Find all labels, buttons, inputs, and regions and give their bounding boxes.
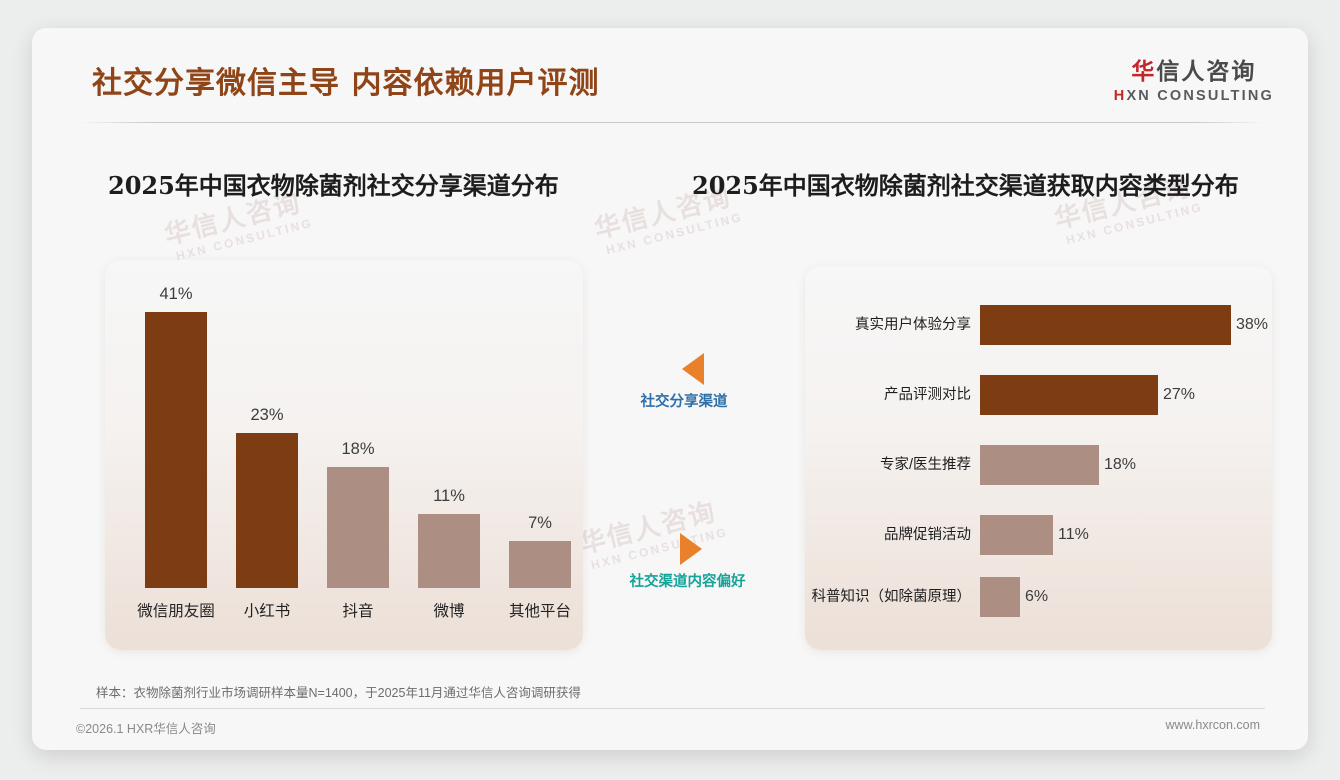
logo-cn-red-char: 华 bbox=[1131, 58, 1156, 85]
footer-divider bbox=[80, 708, 1265, 709]
watermark-en: HXN CONSULTING bbox=[175, 217, 315, 263]
bar-category-label: 品牌促销活动 bbox=[805, 526, 980, 545]
column-category-label: 微信朋友圈 bbox=[137, 599, 215, 621]
bar-value-label: 11% bbox=[1058, 526, 1089, 544]
column-category-label: 微博 bbox=[433, 599, 464, 621]
bar-track: 6% bbox=[980, 574, 1272, 620]
bar-fill[interactable] bbox=[980, 375, 1158, 415]
bar-fill[interactable] bbox=[980, 445, 1099, 485]
slide-header: 社交分享微信主导 内容依赖用户评测 华信人咨询 HXN CONSULTING bbox=[32, 28, 1308, 122]
column-group[interactable]: 23%小红书 bbox=[236, 433, 298, 588]
bar-fill[interactable] bbox=[980, 305, 1231, 345]
bar-chart-plot: 真实用户体验分享38%产品评测对比27%专家/医生推荐18%品牌促销活动11%科… bbox=[805, 266, 1272, 650]
bar-fill[interactable] bbox=[980, 515, 1053, 555]
column-value-label: 11% bbox=[433, 487, 465, 506]
chart-card-share-channels: 41%微信朋友圈23%小红书18%抖音11%微博7%其他平台 bbox=[105, 260, 583, 650]
column-value-label: 23% bbox=[250, 406, 283, 425]
bar-track: 11% bbox=[980, 512, 1272, 558]
annotation-share-channel: 社交分享渠道 bbox=[594, 353, 774, 411]
bar-row[interactable]: 产品评测对比27% bbox=[805, 372, 1272, 418]
bar-fill[interactable] bbox=[980, 577, 1020, 617]
annotation-content-preference-label: 社交渠道内容偏好 bbox=[580, 570, 795, 591]
triangle-right-icon bbox=[680, 533, 702, 565]
column-bar[interactable] bbox=[509, 541, 571, 588]
annotation-share-channel-label: 社交分享渠道 bbox=[594, 390, 774, 411]
bar-value-label: 27% bbox=[1163, 386, 1195, 404]
bar-value-label: 6% bbox=[1025, 588, 1048, 606]
logo-en-rest: XN CONSULTING bbox=[1126, 88, 1274, 104]
column-group[interactable]: 11%微博 bbox=[418, 514, 480, 588]
triangle-left-icon bbox=[682, 353, 704, 385]
bar-row[interactable]: 真实用户体验分享38% bbox=[805, 302, 1272, 348]
column-bar[interactable] bbox=[145, 312, 207, 588]
column-chart-plot: 41%微信朋友圈23%小红书18%抖音11%微博7%其他平台 bbox=[105, 260, 583, 650]
bar-value-label: 18% bbox=[1104, 456, 1136, 474]
bar-category-label: 真实用户体验分享 bbox=[805, 316, 980, 335]
column-bar[interactable] bbox=[236, 433, 298, 588]
column-bar[interactable] bbox=[327, 467, 389, 588]
column-value-label: 41% bbox=[159, 285, 192, 304]
chart-title-right: 2025年中国衣物除菌剂社交渠道获取内容类型分布 bbox=[692, 166, 1239, 201]
bar-row[interactable]: 专家/医生推荐18% bbox=[805, 442, 1272, 488]
watermark-en: HXN CONSULTING bbox=[1065, 201, 1205, 247]
logo-english-text: HXN CONSULTING bbox=[1114, 89, 1274, 104]
column-category-label: 其他平台 bbox=[509, 599, 571, 621]
footer-website[interactable]: www.hxrcon.com bbox=[1166, 718, 1260, 732]
column-group[interactable]: 18%抖音 bbox=[327, 467, 389, 588]
bar-track: 18% bbox=[980, 442, 1272, 488]
chart-title-left: 2025年中国衣物除菌剂社交分享渠道分布 bbox=[108, 166, 559, 201]
column-value-label: 7% bbox=[528, 514, 552, 533]
bar-value-label: 38% bbox=[1236, 316, 1268, 334]
chart-card-content-types: 真实用户体验分享38%产品评测对比27%专家/医生推荐18%品牌促销活动11%科… bbox=[805, 266, 1272, 650]
header-divider bbox=[80, 122, 1265, 123]
bar-row[interactable]: 科普知识（如除菌原理）6% bbox=[805, 574, 1272, 620]
watermark-en: HXN CONSULTING bbox=[605, 211, 745, 257]
bar-category-label: 产品评测对比 bbox=[805, 386, 980, 405]
column-category-label: 抖音 bbox=[342, 599, 373, 621]
brand-logo: 华信人咨询 HXN CONSULTING bbox=[1114, 60, 1274, 104]
bar-category-label: 专家/医生推荐 bbox=[805, 456, 980, 475]
bar-track: 27% bbox=[980, 372, 1272, 418]
bar-category-label: 科普知识（如除菌原理） bbox=[805, 588, 980, 607]
column-value-label: 18% bbox=[341, 440, 374, 459]
bar-row[interactable]: 品牌促销活动11% bbox=[805, 512, 1272, 558]
column-bar[interactable] bbox=[418, 514, 480, 588]
sample-footnote: 样本：衣物除菌剂行业市场调研样本量N=1400，于2025年11月通过华信人咨询… bbox=[96, 682, 581, 701]
logo-en-red-char: H bbox=[1114, 88, 1127, 104]
logo-cn-rest: 信人咨询 bbox=[1156, 58, 1256, 85]
slide-container: 社交分享微信主导 内容依赖用户评测 华信人咨询 HXN CONSULTING 华… bbox=[32, 28, 1308, 750]
logo-chinese-text: 华信人咨询 bbox=[1114, 60, 1274, 83]
page-title: 社交分享微信主导 内容依赖用户评测 bbox=[92, 58, 599, 102]
column-group[interactable]: 7%其他平台 bbox=[509, 541, 571, 588]
annotation-content-preference: 社交渠道内容偏好 bbox=[580, 533, 795, 591]
footer-copyright: ©2026.1 HXR华信人咨询 bbox=[76, 718, 216, 737]
column-category-label: 小红书 bbox=[244, 599, 291, 621]
column-group[interactable]: 41%微信朋友圈 bbox=[145, 312, 207, 588]
bar-track: 38% bbox=[980, 302, 1272, 348]
